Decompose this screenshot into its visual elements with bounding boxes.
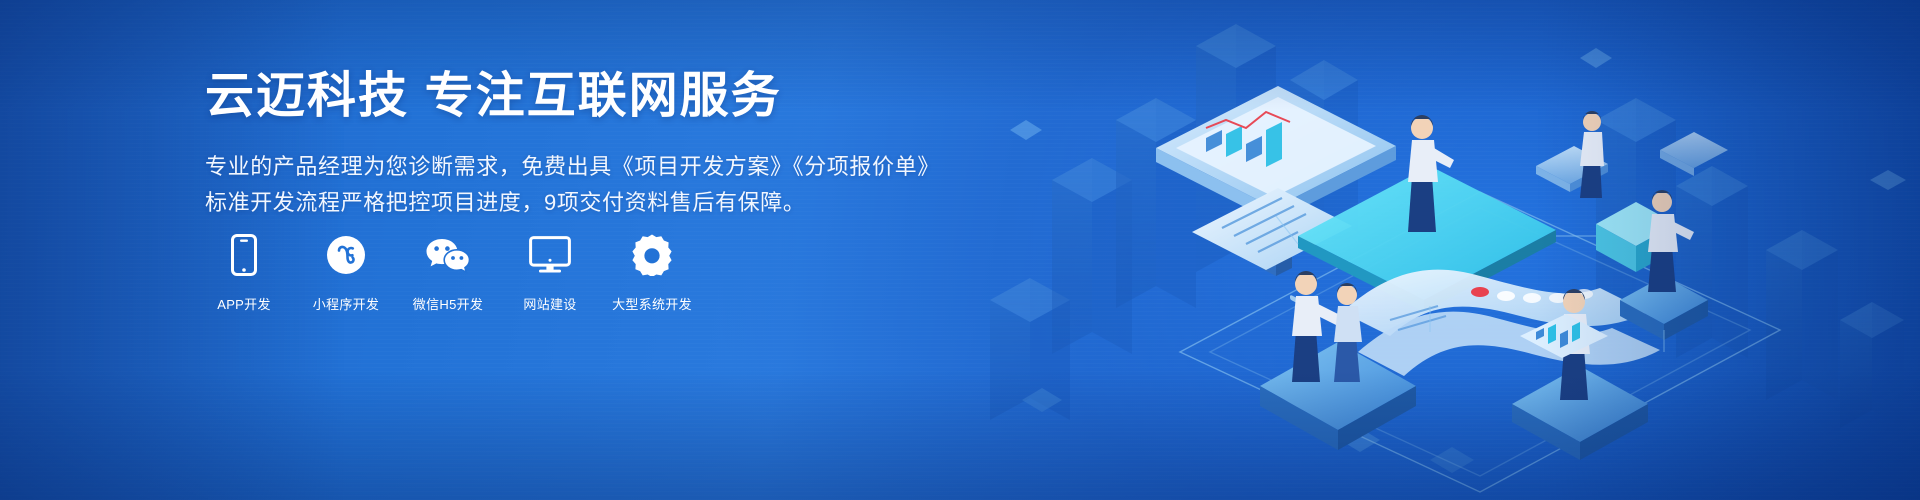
service-list: APP开发 小程序开发 xyxy=(206,232,690,313)
banner-text-block: 云迈科技 专注互联网服务 专业的产品经理为您诊断需求，免费出具《项目开发方案》《… xyxy=(205,68,925,220)
person-right-upper xyxy=(1580,111,1604,198)
mobile-phone-icon xyxy=(231,232,257,278)
service-item-website[interactable]: 网站建设 xyxy=(512,232,588,313)
monitor-icon xyxy=(529,232,571,278)
hero-banner: 云迈科技 专注互联网服务 专业的产品经理为您诊断需求，免费出具《项目开发方案》《… xyxy=(0,0,1920,500)
illustration-isometric-digital-workspace xyxy=(960,0,1920,500)
service-label: APP开发 xyxy=(217,294,271,313)
service-label: 大型系统开发 xyxy=(612,294,692,313)
gear-icon xyxy=(631,232,673,278)
service-label: 网站建设 xyxy=(523,294,576,313)
banner-subline-2: 标准开发流程严格把控项目进度，9项交付资料售后有保障。 xyxy=(205,186,925,220)
service-label: 微信H5开发 xyxy=(413,294,483,313)
mini-program-icon xyxy=(326,232,366,278)
service-label: 小程序开发 xyxy=(313,294,380,313)
person-left-lower-b xyxy=(1334,283,1362,382)
service-item-large-system[interactable]: 大型系统开发 xyxy=(614,232,690,313)
service-item-mini-program[interactable]: 小程序开发 xyxy=(308,232,384,313)
service-item-wechat-h5[interactable]: 微信H5开发 xyxy=(410,232,486,313)
service-item-app[interactable]: APP开发 xyxy=(206,232,282,313)
page-title: 云迈科技 专注互联网服务 xyxy=(205,68,925,124)
banner-subline-1: 专业的产品经理为您诊断需求，免费出具《项目开发方案》《分项报价单》 xyxy=(205,150,925,184)
wechat-icon xyxy=(425,232,471,278)
